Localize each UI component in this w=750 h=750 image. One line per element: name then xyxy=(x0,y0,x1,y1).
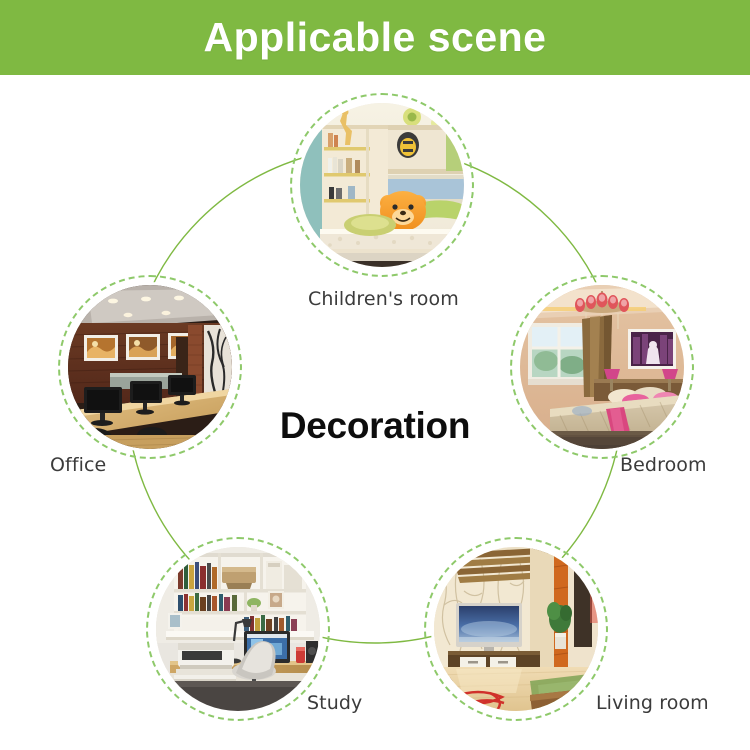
applicable-scene-infographic: Applicable scene Decoration xyxy=(0,0,750,750)
scene-label-study: Study xyxy=(307,692,362,714)
living-room-photo[interactable] xyxy=(434,547,598,711)
childrens-room-photo[interactable] xyxy=(300,103,464,267)
header-bar: Applicable scene xyxy=(0,0,750,75)
diagram-stage: Decoration xyxy=(0,75,750,750)
center-label: Decoration xyxy=(0,405,750,447)
scene-label-bedroom: Bedroom xyxy=(620,454,707,476)
scene-label-children-room: Children's room xyxy=(308,288,459,310)
page-title: Applicable scene xyxy=(204,17,547,58)
scene-label-living-room: Living room xyxy=(596,692,709,714)
scene-label-office: Office xyxy=(50,454,106,476)
study-photo[interactable] xyxy=(156,547,320,711)
